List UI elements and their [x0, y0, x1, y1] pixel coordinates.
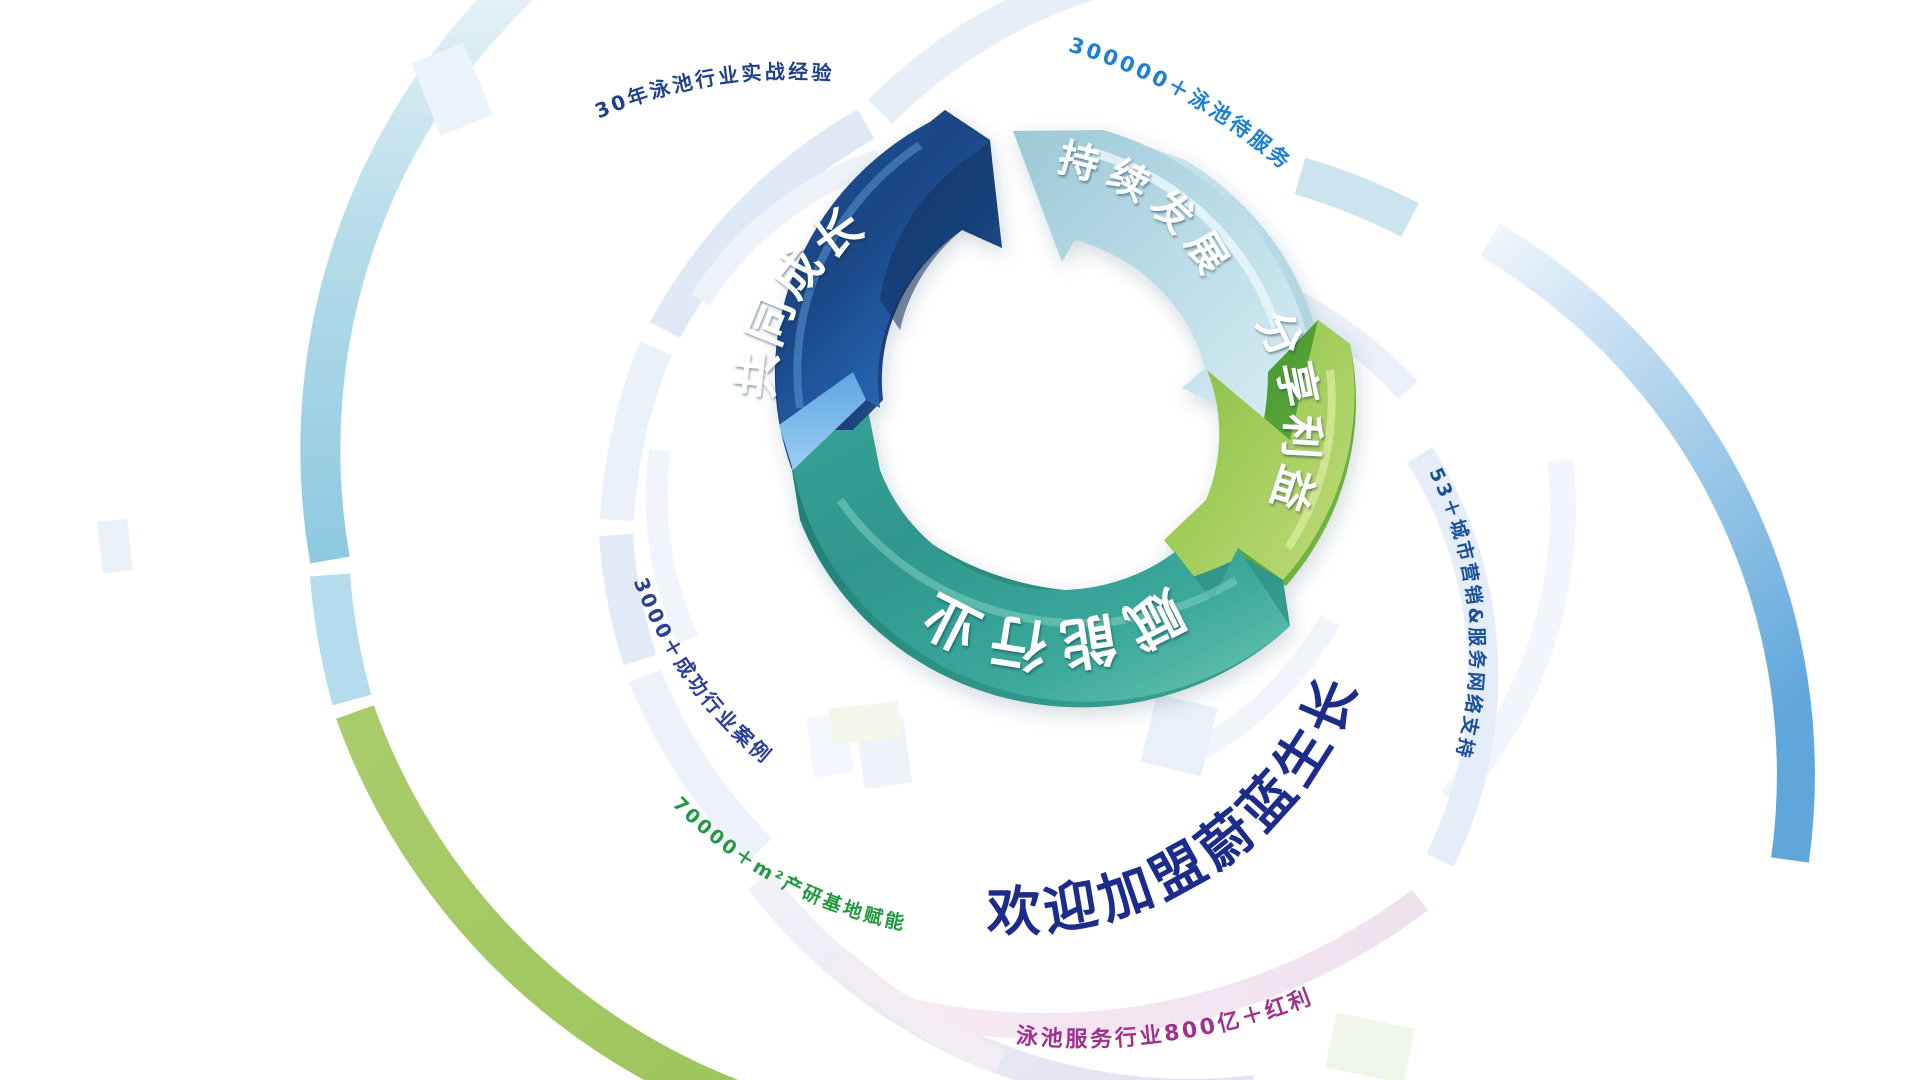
poster-canvas: 共同成长 持续发展 分享利益 赋能行业 30年泳池行业实战经验 300000＋泳… [0, 0, 1920, 1080]
label-cases: 3000＋成功行业案例 [629, 574, 778, 769]
diagram-svg: 共同成长 持续发展 分享利益 赋能行业 30年泳池行业实战经验 300000＋泳… [0, 0, 1920, 1080]
label-experience: 30年泳池行业实战经验 [591, 59, 835, 123]
